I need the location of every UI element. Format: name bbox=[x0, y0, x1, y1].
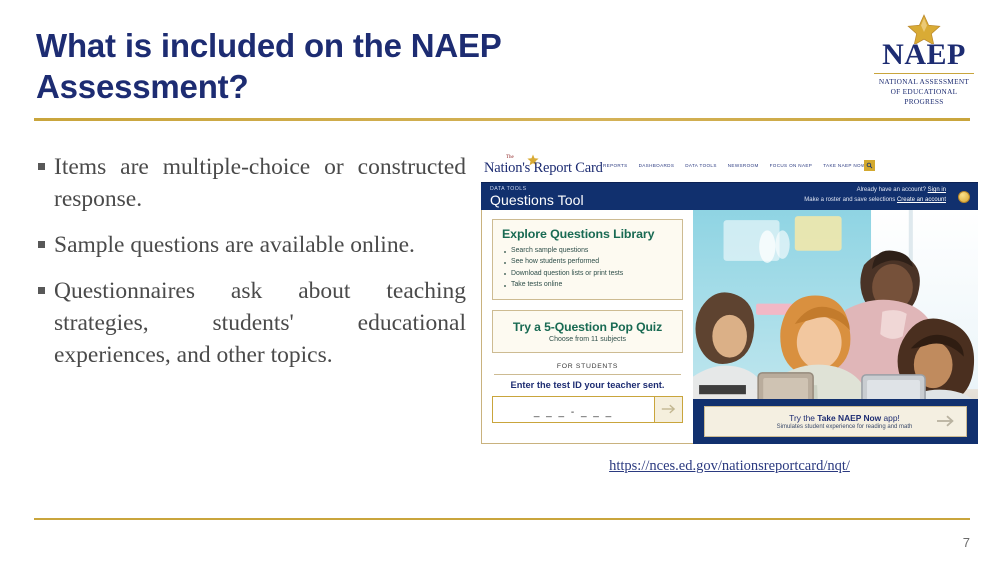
nav-link-newsroom[interactable]: NEWSROOM bbox=[728, 163, 759, 168]
banner-headline: Try the Take NAEP Now app! bbox=[723, 413, 965, 423]
logo-subtitle: NATIONAL ASSESSMENT OF EDUCATIONAL PROGR… bbox=[868, 77, 980, 107]
roster-prompt-text: Make a roster and save selections bbox=[804, 197, 895, 203]
banner-subtext: Simulates student experience for reading… bbox=[723, 424, 965, 430]
page-number: 7 bbox=[963, 535, 970, 550]
site-nav: The Nation's Report Card REPORTS DASHBOA… bbox=[481, 152, 978, 182]
account-create-row: Make a roster and save selections Create… bbox=[804, 197, 946, 203]
bullet-text: Questionnaires ask about teaching strate… bbox=[54, 276, 466, 372]
square-bullet-icon bbox=[38, 241, 45, 248]
square-bullet-icon bbox=[38, 163, 45, 170]
account-signin-row: Already have an account? Sign in bbox=[857, 187, 946, 193]
nav-link-reports[interactable]: REPORTS bbox=[603, 163, 628, 168]
naep-wordmark: NAEP bbox=[868, 40, 980, 70]
slide: What is included on the NAEP Assessment?… bbox=[0, 0, 1006, 571]
logo-divider bbox=[874, 73, 974, 74]
bullet-list: Items are multiple-choice or constructed… bbox=[36, 152, 466, 386]
banner-text: Try the Take NAEP Now app! Simulates stu… bbox=[705, 413, 965, 430]
source-url-link[interactable]: https://nces.ed.gov/nationsreportcard/nq… bbox=[481, 458, 978, 475]
search-icon[interactable] bbox=[864, 160, 875, 171]
explore-card-item: See how students performed bbox=[502, 256, 673, 267]
pop-quiz-card[interactable]: Try a 5-Question Pop Quiz Choose from 11… bbox=[492, 310, 683, 353]
left-panel: Explore Questions Library Search sample … bbox=[481, 210, 693, 444]
classroom-photo-panel: Try the Take NAEP Now app! Simulates stu… bbox=[693, 210, 978, 444]
quiz-card-subtext: Choose from 11 subjects bbox=[499, 336, 676, 343]
nav-link-data-tools[interactable]: DATA TOOLS bbox=[685, 163, 717, 168]
take-naep-now-banner[interactable]: Try the Take NAEP Now app! Simulates stu… bbox=[693, 399, 978, 444]
explore-card-item: Take tests online bbox=[502, 279, 673, 290]
logo-subtitle-line3: PROGRESS bbox=[868, 97, 980, 107]
test-id-input[interactable]: _ _ _ - _ _ _ bbox=[493, 397, 654, 422]
banner-inner: Try the Take NAEP Now app! Simulates stu… bbox=[704, 406, 966, 437]
explore-questions-library-card[interactable]: Explore Questions Library Search sample … bbox=[492, 219, 683, 300]
bullet-text: Sample questions are available online. bbox=[54, 230, 415, 262]
footer-divider bbox=[34, 518, 970, 520]
square-bullet-icon bbox=[38, 287, 45, 294]
nav-link-take-naep-now[interactable]: TAKE NAEP NOW bbox=[823, 163, 865, 168]
magnifier-glyph bbox=[866, 162, 873, 169]
logo-subtitle-line2: OF EDUCATIONAL bbox=[868, 87, 980, 97]
explore-card-heading: Explore Questions Library bbox=[502, 227, 673, 241]
naep-logo: NAEP NATIONAL ASSESSMENT OF EDUCATIONAL … bbox=[868, 14, 980, 107]
site-nav-links: REPORTS DASHBOARDS DATA TOOLS NEWSROOM F… bbox=[603, 163, 866, 168]
arrow-right-icon bbox=[661, 403, 677, 415]
list-item: Questionnaires ask about teaching strate… bbox=[36, 276, 466, 372]
explore-card-item: Download question lists or print tests bbox=[502, 268, 673, 279]
logo-subtitle-line1: NATIONAL ASSESSMENT bbox=[868, 77, 980, 87]
banner-text-bold: Take NAEP Now bbox=[817, 413, 881, 423]
test-id-prompt: Enter the test ID your teacher sent. bbox=[492, 380, 683, 390]
title-divider bbox=[34, 118, 970, 121]
quiz-card-heading: Try a 5-Question Pop Quiz bbox=[499, 320, 676, 334]
account-prompt-text: Already have an account? bbox=[857, 187, 926, 193]
for-students-label: FOR STUDENTS bbox=[492, 363, 683, 370]
logo-name-text: Nation's Report Card bbox=[484, 160, 603, 177]
test-id-entry-row: _ _ _ - _ _ _ bbox=[492, 396, 683, 423]
for-students-divider bbox=[494, 374, 681, 375]
test-id-submit-button[interactable] bbox=[654, 397, 682, 422]
tool-body: Explore Questions Library Search sample … bbox=[481, 210, 978, 444]
explore-card-item: Search sample questions bbox=[502, 245, 673, 256]
nav-link-dashboards[interactable]: DASHBOARDS bbox=[639, 163, 675, 168]
tool-title: Questions Tool bbox=[490, 192, 584, 208]
avatar[interactable] bbox=[958, 191, 970, 203]
list-item: Sample questions are available online. bbox=[36, 230, 466, 262]
list-item: Items are multiple-choice or constructed… bbox=[36, 152, 466, 216]
nav-link-focus-on-naep[interactable]: FOCUS ON NAEP bbox=[770, 163, 813, 168]
embedded-website-screenshot: The Nation's Report Card REPORTS DASHBOA… bbox=[481, 152, 978, 444]
banner-text-after: app! bbox=[881, 413, 900, 423]
sign-in-link[interactable]: Sign in bbox=[928, 187, 946, 193]
tool-header: DATA TOOLS Questions Tool Already have a… bbox=[481, 182, 978, 210]
create-account-link[interactable]: Create an account bbox=[897, 197, 946, 203]
banner-text-before: Try the bbox=[789, 413, 817, 423]
bullet-text: Items are multiple-choice or constructed… bbox=[54, 152, 466, 216]
page-title: What is included on the NAEP Assessment? bbox=[36, 26, 656, 108]
arrow-right-icon bbox=[936, 413, 956, 429]
